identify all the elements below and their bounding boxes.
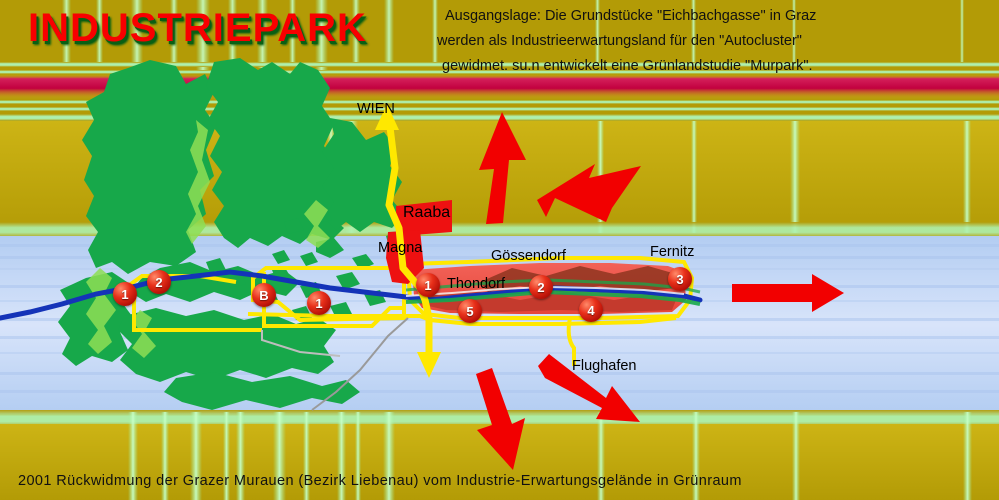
page-title: INDUSTRIEPARK (28, 6, 367, 51)
poster-canvas: INDUSTRIEPARK Ausgangslage: Die Grundstü… (0, 0, 999, 500)
marker-left-1[interactable]: 1 (113, 282, 137, 306)
marker-4[interactable]: 4 (579, 298, 603, 322)
marker-3[interactable]: 3 (668, 267, 692, 291)
arrow-up-right-red (537, 164, 641, 222)
marker-left-2[interactable]: 2 (147, 270, 171, 294)
header-line-1: Ausgangslage: Die Grundstücke "Eichbachg… (445, 8, 816, 24)
marker-left-3[interactable]: 1 (307, 291, 331, 315)
label-fernitz: Fernitz (650, 244, 694, 260)
header: INDUSTRIEPARK Ausgangslage: Die Grundstü… (0, 0, 999, 66)
label-raaba: Raaba (403, 204, 450, 222)
header-line-2: werden als Industrieerwartungsland für d… (437, 33, 802, 49)
arrow-up-red (479, 112, 526, 224)
footer-caption: 2001 Rückwidmung der Grazer Murauen (Bez… (18, 473, 742, 489)
label-magna: Magna (378, 240, 422, 256)
arrow-right-red (732, 274, 844, 312)
label-flughafen: Flughafen (572, 358, 637, 374)
header-line-3: gewidmet. su.n entwickelt eine Grünlands… (442, 58, 813, 74)
label-goessendorf: Gössendorf (491, 248, 566, 264)
label-wien: WIEN (357, 101, 395, 117)
marker-1[interactable]: 1 (416, 273, 440, 297)
marker-b[interactable]: B (252, 283, 276, 307)
label-thondorf: Thondorf (447, 276, 505, 292)
marker-2[interactable]: 2 (529, 275, 553, 299)
marker-5[interactable]: 5 (458, 299, 482, 323)
arrow-down-red (476, 368, 525, 470)
